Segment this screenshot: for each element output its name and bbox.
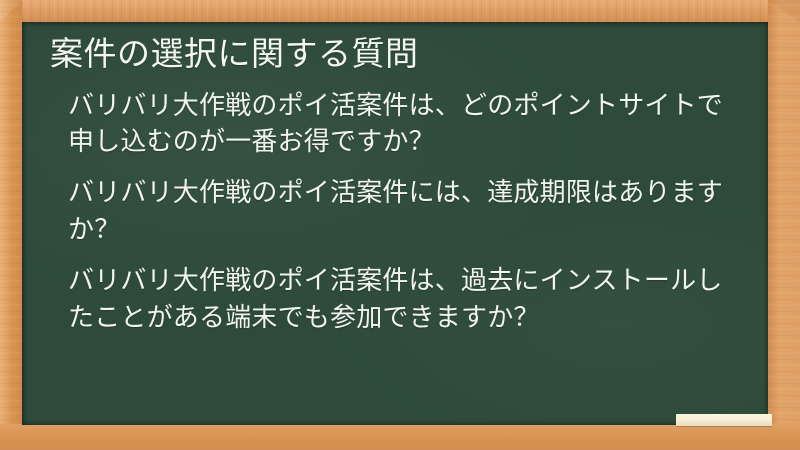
page-title: 案件の選択に関する質問 xyxy=(50,32,742,77)
chalkboard-surface: 案件の選択に関する質問 バリバリ大作戦のポイ活案件は、どのポイントサイトで申し込… xyxy=(22,22,768,425)
list-item: バリバリ大作戦のポイ活案件には、達成期限はありますか？ xyxy=(68,174,728,248)
question-list: バリバリ大作戦のポイ活案件は、どのポイントサイトで申し込むのが一番お得ですか？ … xyxy=(50,87,742,336)
frame-miter-top-right xyxy=(768,0,800,22)
list-item: バリバリ大作戦のポイ活案件は、どのポイントサイトで申し込むのが一番お得ですか？ xyxy=(68,87,728,161)
frame-bottom-ledge xyxy=(0,424,800,450)
frame-right-rail xyxy=(768,0,800,450)
chalkboard-slide: 案件の選択に関する質問 バリバリ大作戦のポイ活案件は、どのポイントサイトで申し込… xyxy=(0,0,800,450)
frame-miter-top-left xyxy=(0,0,22,22)
chalk-piece xyxy=(676,414,772,426)
chalkboard-content: 案件の選択に関する質問 バリバリ大作戦のポイ活案件は、どのポイントサイトで申し込… xyxy=(22,22,768,425)
list-item: バリバリ大作戦のポイ活案件は、過去にインストールしたことがある端末でも参加できま… xyxy=(68,262,728,336)
frame-top-rail xyxy=(0,0,800,22)
frame-left-rail xyxy=(0,0,22,450)
